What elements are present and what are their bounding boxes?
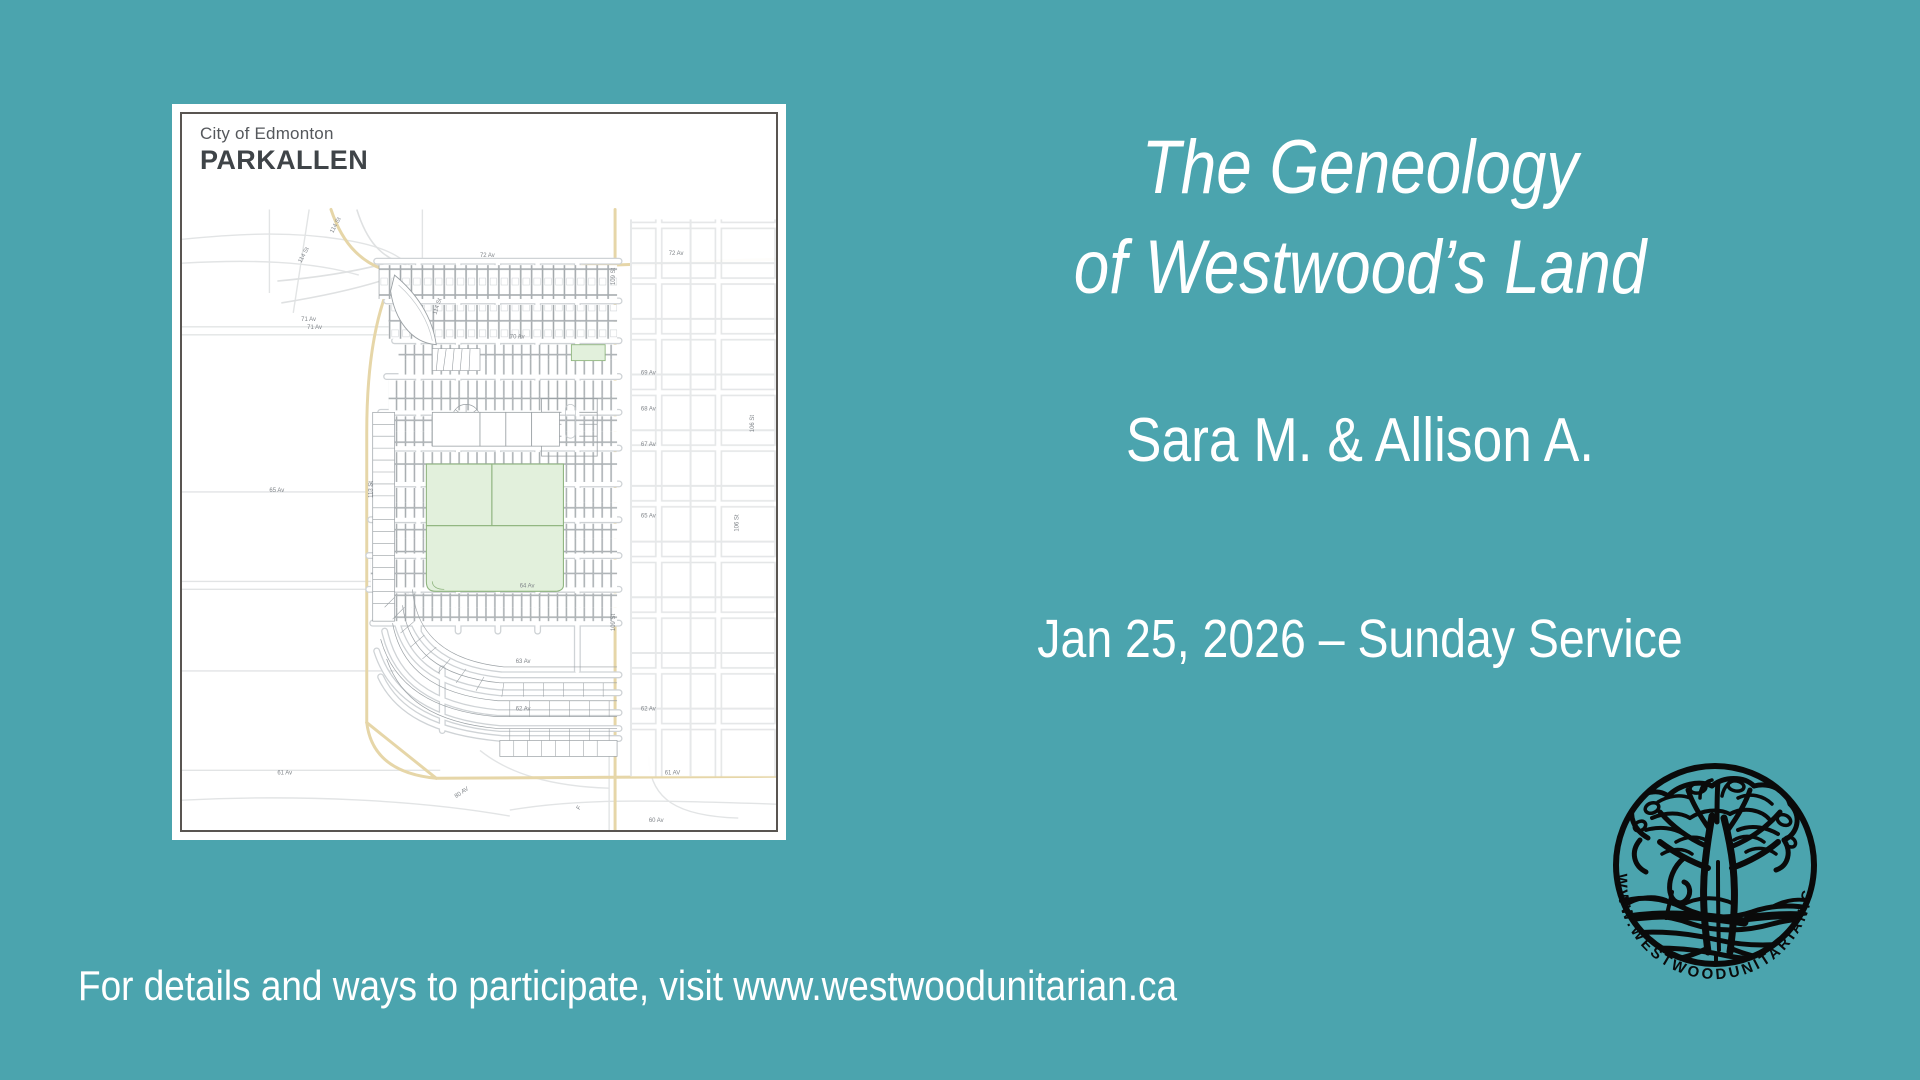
map-panel: 72 Av 72 Av 70 Av 69 Av 68 Av 67 Av 65 A… bbox=[172, 104, 786, 840]
svg-text:72 Av: 72 Av bbox=[669, 251, 684, 257]
svg-text:67 Av: 67 Av bbox=[641, 442, 656, 448]
westwood-unitarian-logo[interactable]: WWW.WESTWOODUNITARIAN.CA bbox=[1588, 742, 1842, 996]
svg-text:70 Av: 70 Av bbox=[510, 335, 525, 341]
svg-text:109 St: 109 St bbox=[611, 614, 617, 632]
talk-title-line-2: of Westwood’s Land bbox=[940, 218, 1780, 318]
parkallen-cadastral-map: 72 Av 72 Av 70 Av 69 Av 68 Av 67 Av 65 A… bbox=[182, 114, 776, 830]
svg-text:64 Av: 64 Av bbox=[520, 583, 535, 589]
svg-text:62 Av: 62 Av bbox=[516, 707, 531, 713]
svg-text:71 Av: 71 Av bbox=[307, 325, 322, 331]
talk-title: The Geneology of Westwood’s Land bbox=[860, 118, 1860, 319]
service-date: Jan 25, 2026 – Sunday Service bbox=[930, 608, 1790, 670]
speaker-names: Sara M. & Allison A. bbox=[930, 405, 1790, 476]
svg-text:71 Av: 71 Av bbox=[301, 317, 316, 323]
svg-text:61 Av: 61 Av bbox=[277, 770, 292, 776]
talk-title-line-1: The Geneology bbox=[940, 118, 1780, 218]
svg-text:109 St: 109 St bbox=[611, 267, 617, 285]
svg-text:60 Av: 60 Av bbox=[649, 818, 664, 824]
map-frame: 72 Av 72 Av 70 Av 69 Av 68 Av 67 Av 65 A… bbox=[180, 112, 778, 832]
svg-text:68 Av: 68 Av bbox=[641, 406, 656, 412]
svg-text:65 Av: 65 Av bbox=[641, 514, 656, 520]
svg-text:72 Av: 72 Av bbox=[480, 253, 495, 259]
svg-text:106 St: 106 St bbox=[750, 415, 756, 433]
svg-text:61 AV: 61 AV bbox=[665, 770, 680, 776]
svg-text:62 Av: 62 Av bbox=[641, 707, 656, 713]
slide-canvas: 72 Av 72 Av 70 Av 69 Av 68 Av 67 Av 65 A… bbox=[0, 0, 1920, 1080]
svg-text:106 St: 106 St bbox=[734, 514, 740, 532]
svg-text:113 St: 113 St bbox=[369, 481, 375, 498]
svg-text:65 Av: 65 Av bbox=[269, 488, 284, 494]
tree-of-life-icon: WWW.WESTWOODUNITARIAN.CA bbox=[1588, 742, 1842, 996]
svg-text:63 Av: 63 Av bbox=[516, 659, 531, 665]
svg-text:69 Av: 69 Av bbox=[641, 371, 656, 377]
footer-note: For details and ways to participate, vis… bbox=[78, 962, 1177, 1010]
